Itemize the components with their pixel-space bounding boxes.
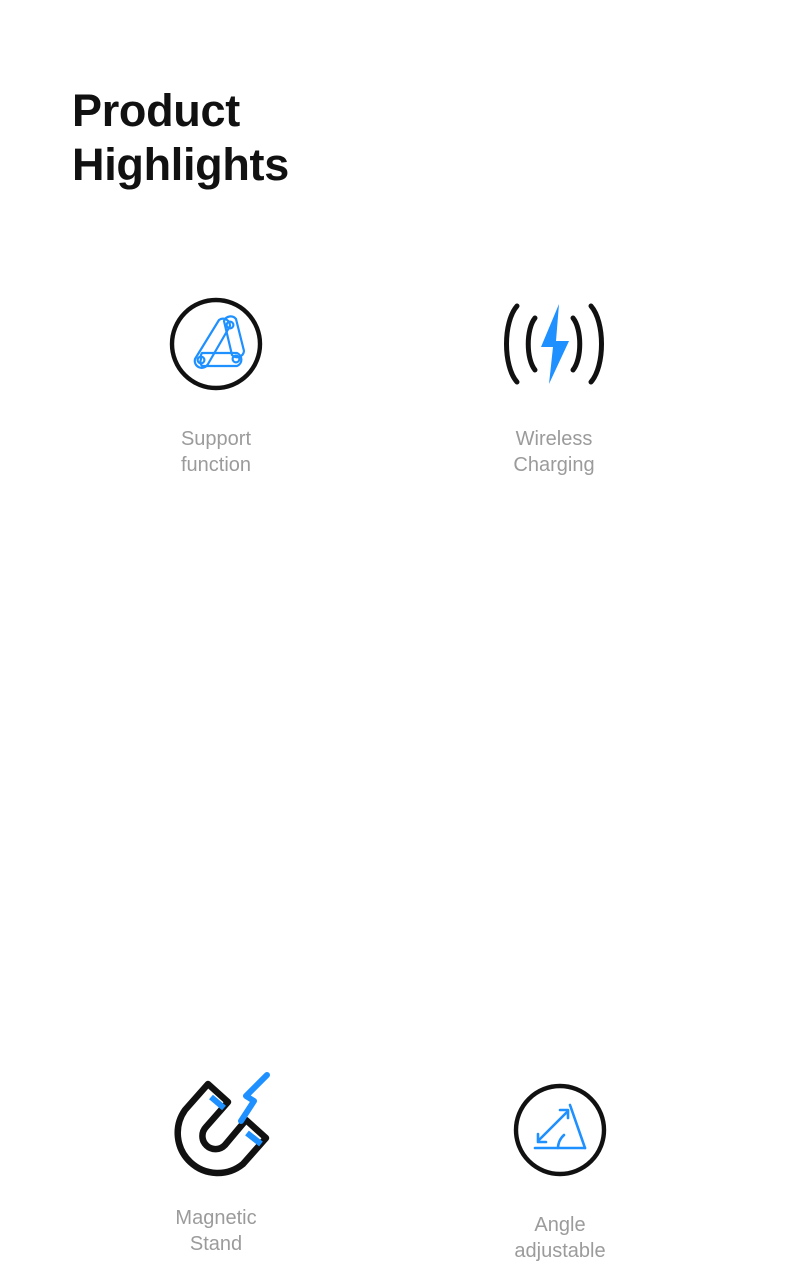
feature-label-magnetic-stand: Magnetic Stand bbox=[106, 1205, 326, 1257]
page-title: Product Highlights bbox=[72, 84, 432, 192]
page-title-line-2: Highlights bbox=[72, 138, 432, 192]
feature-label-line-1: Wireless bbox=[444, 426, 664, 452]
angle-adjustable-icon bbox=[450, 1070, 670, 1190]
feature-label-line-1: Angle bbox=[450, 1212, 670, 1238]
product-highlights-page: Product Highlights bbox=[0, 0, 800, 990]
feature-label-line-1: Support bbox=[106, 426, 326, 452]
feature-label-line-1: Magnetic bbox=[106, 1205, 326, 1231]
wireless-charging-icon bbox=[444, 284, 664, 404]
support-function-icon bbox=[106, 284, 326, 404]
feature-label-line-2: Charging bbox=[444, 452, 664, 478]
feature-row-2: Magnetic Stand bbox=[0, 645, 800, 1040]
feature-label-support-function: Support function bbox=[106, 426, 326, 478]
feature-wireless-charging: Wireless Charging bbox=[444, 284, 664, 478]
feature-angle-adjustable: Angle adjustable bbox=[450, 1070, 670, 1264]
feature-row-1: Support function bbox=[0, 250, 800, 645]
feature-grid: Support function bbox=[0, 250, 800, 1040]
feature-label-line-2: Stand bbox=[106, 1231, 326, 1257]
feature-label-wireless-charging: Wireless Charging bbox=[444, 426, 664, 478]
feature-support-function: Support function bbox=[106, 284, 326, 478]
feature-magnetic-stand: Magnetic Stand bbox=[106, 1063, 326, 1257]
page-title-line-1: Product bbox=[72, 84, 432, 138]
feature-label-angle-adjustable: Angle adjustable bbox=[450, 1212, 670, 1264]
feature-label-line-2: adjustable bbox=[450, 1238, 670, 1264]
magnetic-stand-icon bbox=[106, 1063, 326, 1183]
feature-label-line-2: function bbox=[106, 452, 326, 478]
